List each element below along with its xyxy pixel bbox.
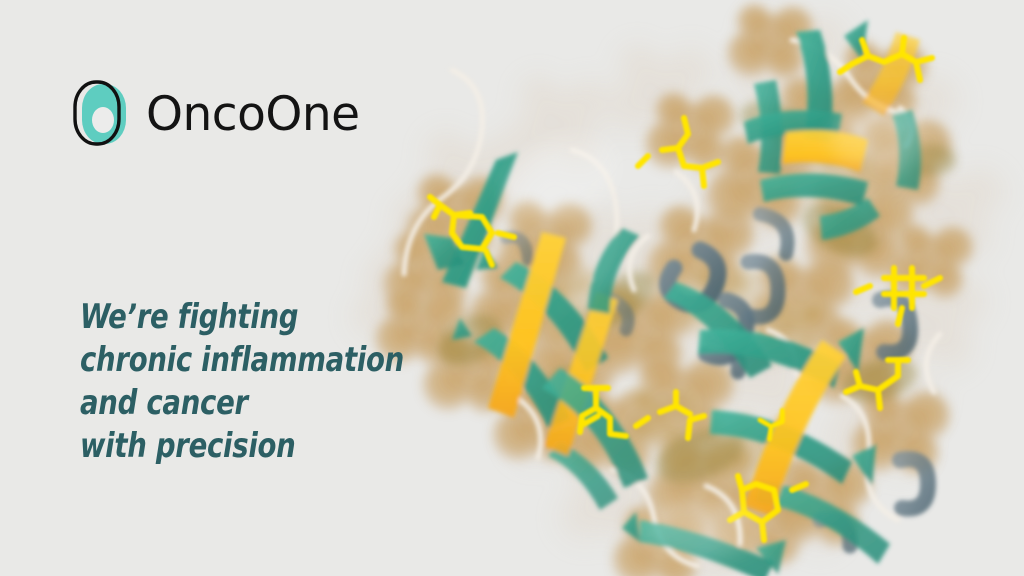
oncoone-logo-icon	[70, 78, 132, 150]
tagline-line-2: chronic inflammation	[80, 339, 404, 382]
brand-logo[interactable]: OncoOne	[70, 78, 360, 150]
slide-canvas: OncoOne We’re fighting chronic inflammat…	[0, 0, 1024, 576]
tagline-line-1: We’re fighting	[80, 296, 404, 339]
brand-wordmark: OncoOne	[146, 91, 360, 138]
tagline-line-3: and cancer	[80, 382, 404, 425]
tagline-line-4: with precision	[80, 425, 404, 468]
tagline: We’re fighting chronic inflammation and …	[80, 296, 404, 468]
